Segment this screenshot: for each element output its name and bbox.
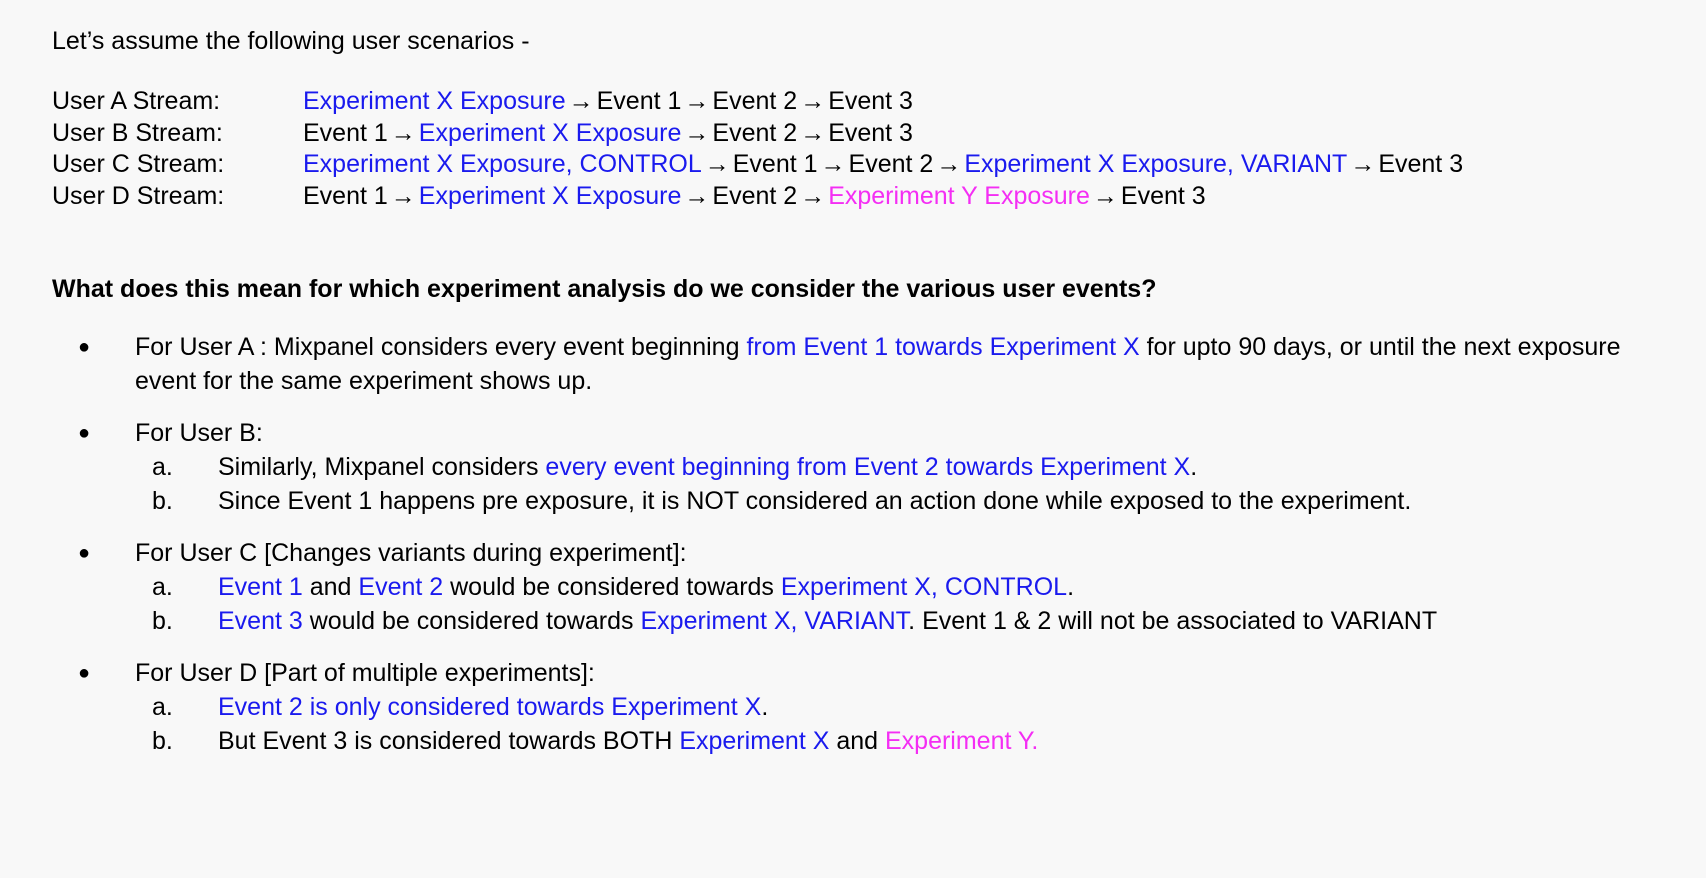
stream-segment: Experiment Y Exposure <box>828 182 1090 210</box>
sub-list-marker: b. <box>152 484 173 518</box>
sub-list-text-span: . <box>1190 453 1197 481</box>
sub-list-marker: b. <box>152 724 173 758</box>
bullet-text-span: For User C [Changes variants during expe… <box>135 539 687 567</box>
user-stream-row: User B Stream:Event 1→Experiment X Expos… <box>52 118 1463 150</box>
stream-segment: Event 1 <box>597 87 682 115</box>
bullet-dot-icon: ● <box>78 656 90 690</box>
sub-list: a.Event 1 and Event 2 would be considere… <box>0 570 1706 638</box>
sub-list: a.Event 2 is only considered towards Exp… <box>0 690 1706 758</box>
sub-list-text-span: Experiment X, VARIANT <box>640 607 908 635</box>
sub-list: a.Similarly, Mixpanel considers every ev… <box>0 450 1706 518</box>
sub-list-marker: a. <box>152 450 173 484</box>
bullet-dot-icon: ● <box>78 536 90 570</box>
user-stream-flow: Experiment X Exposure, CONTROL→Event 1→E… <box>303 149 1463 181</box>
sub-list-marker: a. <box>152 690 173 724</box>
arrow-right-icon: → <box>797 119 828 147</box>
sub-list-text-span: . <box>761 693 768 721</box>
user-stream-list: User A Stream:Experiment X Exposure→Even… <box>52 86 1463 212</box>
sub-list-item: b.Since Event 1 happens pre exposure, it… <box>0 484 1706 518</box>
arrow-right-icon: → <box>1347 150 1378 178</box>
stream-segment: Event 3 <box>828 119 913 147</box>
sub-list-text-span: Since Event 1 happens pre exposure, it i… <box>218 487 1411 515</box>
sub-list-text-span: Event 2 is only considered towards Exper… <box>218 693 761 721</box>
sub-list-text-span: Experiment X, CONTROL <box>781 573 1067 601</box>
stream-segment: Experiment X Exposure, VARIANT <box>964 150 1347 178</box>
section-question-heading: What does this mean for which experiment… <box>52 272 1156 306</box>
bullet-dot-icon: ● <box>78 330 90 364</box>
bullet-dot-icon: ● <box>78 416 90 450</box>
sub-list-text-span: Similarly, Mixpanel considers <box>218 453 545 481</box>
list-item: ●For User B: <box>0 416 1706 450</box>
sub-list-text-span: every event beginning from Event 2 towar… <box>545 453 1190 481</box>
user-stream-row: User D Stream:Event 1→Experiment X Expos… <box>52 181 1463 213</box>
user-stream-flow: Event 1→Experiment X Exposure→Event 2→Ex… <box>303 181 1206 213</box>
stream-segment: Event 2 <box>849 150 934 178</box>
list-item: ●For User A : Mixpanel considers every e… <box>0 330 1706 398</box>
sub-list-text-span: and <box>829 727 885 755</box>
user-stream-label: User D Stream: <box>52 181 303 213</box>
arrow-right-icon: → <box>818 150 849 178</box>
arrow-right-icon: → <box>681 182 712 210</box>
document-page: Let’s assume the following user scenario… <box>0 0 1706 878</box>
arrow-right-icon: → <box>797 87 828 115</box>
bullet-group: ●For User C [Changes variants during exp… <box>0 536 1706 638</box>
sub-list-text-span: . <box>1067 573 1074 601</box>
stream-segment: Event 1 <box>303 119 388 147</box>
analysis-bullet-list: ●For User A : Mixpanel considers every e… <box>0 330 1706 776</box>
stream-segment: Event 2 <box>712 119 797 147</box>
sub-list-item: b.Event 3 would be considered towards Ex… <box>0 604 1706 638</box>
user-stream-row: User C Stream:Experiment X Exposure, CON… <box>52 149 1463 181</box>
arrow-right-icon: → <box>797 182 828 210</box>
bullet-text-span: For User D [Part of multiple experiments… <box>135 659 595 687</box>
sub-list-text-span: . Event 1 & 2 will not be associated to … <box>908 607 1437 635</box>
arrow-right-icon: → <box>681 87 712 115</box>
list-item: ●For User D [Part of multiple experiment… <box>0 656 1706 690</box>
user-stream-flow: Experiment X Exposure→Event 1→Event 2→Ev… <box>303 86 913 118</box>
stream-segment: Event 3 <box>1121 182 1206 210</box>
arrow-right-icon: → <box>933 150 964 178</box>
sub-list-marker: a. <box>152 570 173 604</box>
arrow-right-icon: → <box>702 150 733 178</box>
user-stream-label: User A Stream: <box>52 86 303 118</box>
sub-list-item: a.Similarly, Mixpanel considers every ev… <box>0 450 1706 484</box>
arrow-right-icon: → <box>388 182 419 210</box>
arrow-right-icon: → <box>681 119 712 147</box>
stream-segment: Experiment X Exposure <box>419 119 682 147</box>
bullet-group: ●For User D [Part of multiple experiment… <box>0 656 1706 758</box>
intro-paragraph: Let’s assume the following user scenario… <box>52 24 530 58</box>
sub-list-text-span: Event 1 <box>218 573 303 601</box>
stream-segment: Event 1 <box>303 182 388 210</box>
bullet-text-span: For User A : Mixpanel considers every ev… <box>135 333 746 361</box>
arrow-right-icon: → <box>566 87 597 115</box>
stream-segment: Event 2 <box>712 87 797 115</box>
stream-segment: Event 3 <box>828 87 913 115</box>
sub-list-text-span: But Event 3 is considered towards BOTH <box>218 727 679 755</box>
stream-segment: Experiment X Exposure <box>419 182 682 210</box>
sub-list-item: a.Event 1 and Event 2 would be considere… <box>0 570 1706 604</box>
arrow-right-icon: → <box>1090 182 1121 210</box>
sub-list-text-span: Experiment Y. <box>885 727 1038 755</box>
user-stream-flow: Event 1→Experiment X Exposure→Event 2→Ev… <box>303 118 913 150</box>
bullet-group: ●For User B:a.Similarly, Mixpanel consid… <box>0 416 1706 518</box>
bullet-text-span: from Event 1 towards Experiment X <box>746 333 1139 361</box>
user-stream-label: User C Stream: <box>52 149 303 181</box>
arrow-right-icon: → <box>388 119 419 147</box>
sub-list-text-span: Event 3 <box>218 607 303 635</box>
sub-list-item: b.But Event 3 is considered towards BOTH… <box>0 724 1706 758</box>
list-item: ●For User C [Changes variants during exp… <box>0 536 1706 570</box>
sub-list-text-span: Event 2 <box>358 573 443 601</box>
sub-list-text-span: would be considered towards <box>443 573 781 601</box>
bullet-group: ●For User A : Mixpanel considers every e… <box>0 330 1706 398</box>
stream-segment: Event 1 <box>733 150 818 178</box>
sub-list-text-span: and <box>303 573 359 601</box>
sub-list-marker: b. <box>152 604 173 638</box>
stream-segment: Event 3 <box>1378 150 1463 178</box>
stream-segment: Experiment X Exposure <box>303 87 566 115</box>
user-stream-row: User A Stream:Experiment X Exposure→Even… <box>52 86 1463 118</box>
sub-list-item: a.Event 2 is only considered towards Exp… <box>0 690 1706 724</box>
stream-segment: Event 2 <box>712 182 797 210</box>
bullet-text-span: For User B: <box>135 419 263 447</box>
user-stream-label: User B Stream: <box>52 118 303 150</box>
sub-list-text-span: would be considered towards <box>303 607 641 635</box>
stream-segment: Experiment X Exposure, CONTROL <box>303 150 702 178</box>
sub-list-text-span: Experiment X <box>679 727 829 755</box>
